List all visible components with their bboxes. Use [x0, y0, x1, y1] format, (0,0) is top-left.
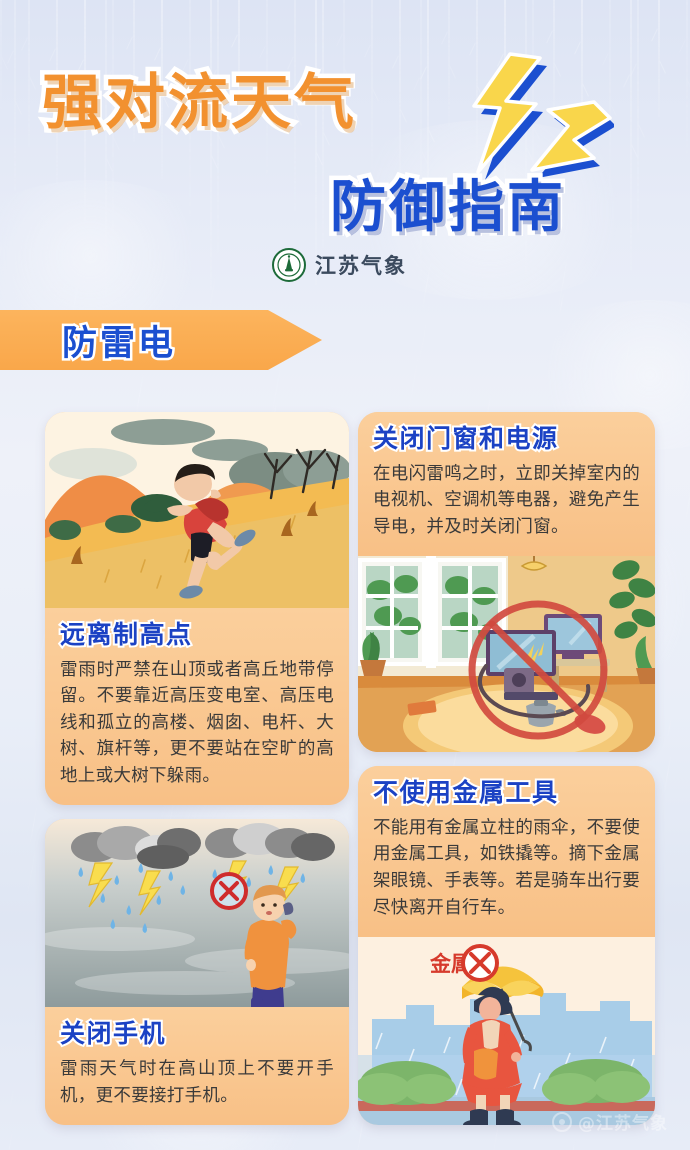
- watermark-text: @江苏气象: [578, 1109, 668, 1134]
- card-title: 关闭手机: [60, 1019, 334, 1049]
- poster-header: 强对流天气 防御指南 江苏气象: [0, 0, 690, 300]
- runner-on-golden-hill-illustration: [45, 412, 349, 608]
- poster-title-main: 强对流天气: [42, 54, 357, 141]
- card-title: 远离制高点: [60, 620, 334, 650]
- meteorological-tower-logo-icon: [272, 248, 306, 282]
- poster-root: 强对流天气 防御指南 江苏气象: [0, 0, 690, 1150]
- card-title: 不使用金属工具: [373, 778, 640, 808]
- card-column-left: 远离制高点 雷雨时严禁在山顶或者高丘地带停留。不要靠近高压变电室、高压电线和孤立…: [45, 412, 349, 1139]
- weibo-watermark: @江苏气象: [552, 1109, 668, 1134]
- card-body: 在电闪雷鸣之时，立即关掉室内的电视机、空调机等电器，避免产生导电，并及时关闭门窗…: [373, 461, 640, 541]
- card-column-right: 关闭门窗和电源 在电闪雷鸣之时，立即关掉室内的电视机、空调机等电器，避免产生导电…: [358, 412, 655, 1139]
- brand-mark: 江苏气象: [272, 248, 407, 282]
- card-close-doors-windows-power[interactable]: 关闭门窗和电源 在电闪雷鸣之时，立即关掉室内的电视机、空调机等电器，避免产生导电…: [358, 412, 655, 752]
- metal-prohibited-label: 金属: [429, 946, 497, 980]
- card-text-block: 关闭门窗和电源 在电闪雷鸣之时，立即关掉室内的电视机、空调机等电器，避免产生导电…: [358, 412, 655, 556]
- card-text-block: 不使用金属工具 不能用有金属立柱的雨伞，不要使用金属工具，如铁撬等。摘下金属架眼…: [358, 766, 655, 937]
- card-stay-away-from-high-points[interactable]: 远离制高点 雷雨时严禁在山顶或者高丘地带停留。不要靠近高压变电室、高压电线和孤立…: [45, 412, 349, 805]
- section-banner-thunder: 防雷电: [0, 310, 322, 370]
- card-body: 雷雨时严禁在山顶或者高丘地带停留。不要靠近高压变电室、高压电线和孤立的高楼、烟囱…: [60, 657, 334, 790]
- brand-name: 江苏气象: [315, 250, 407, 280]
- card-turn-off-mobile-phone[interactable]: 关闭手机 雷雨天气时在高山顶上不要开手机，更不要接打手机。: [45, 819, 349, 1125]
- card-body: 不能用有金属立柱的雨伞，不要使用金属工具，如铁撬等。摘下金属架眼镜、手表等。若是…: [373, 815, 640, 921]
- card-text-block: 远离制高点 雷雨时严禁在山顶或者高丘地带停留。不要靠近高压变电室、高压电线和孤立…: [45, 608, 349, 805]
- weibo-icon: [552, 1112, 572, 1132]
- card-body: 雷雨天气时在高山顶上不要开手机，更不要接打手机。: [60, 1056, 334, 1109]
- card-title: 关闭门窗和电源: [373, 424, 640, 454]
- card-no-metal-tools[interactable]: 不使用金属工具 不能用有金属立柱的雨伞，不要使用金属工具，如铁撬等。摘下金属架眼…: [358, 766, 655, 1125]
- prohibition-sign-icon: [212, 874, 246, 908]
- card-text-block: 关闭手机 雷雨天气时在高山顶上不要开手机，更不要接打手机。: [45, 1007, 349, 1125]
- thunderstorm-person-on-phone-illustration: [45, 819, 349, 1007]
- woman-with-yellow-umbrella-illustration: 金属: [358, 937, 655, 1125]
- indoor-appliances-prohibited-illustration: [358, 556, 655, 752]
- section-banner-label: 防雷电: [62, 315, 176, 366]
- poster-title-sub: 防御指南: [330, 162, 566, 243]
